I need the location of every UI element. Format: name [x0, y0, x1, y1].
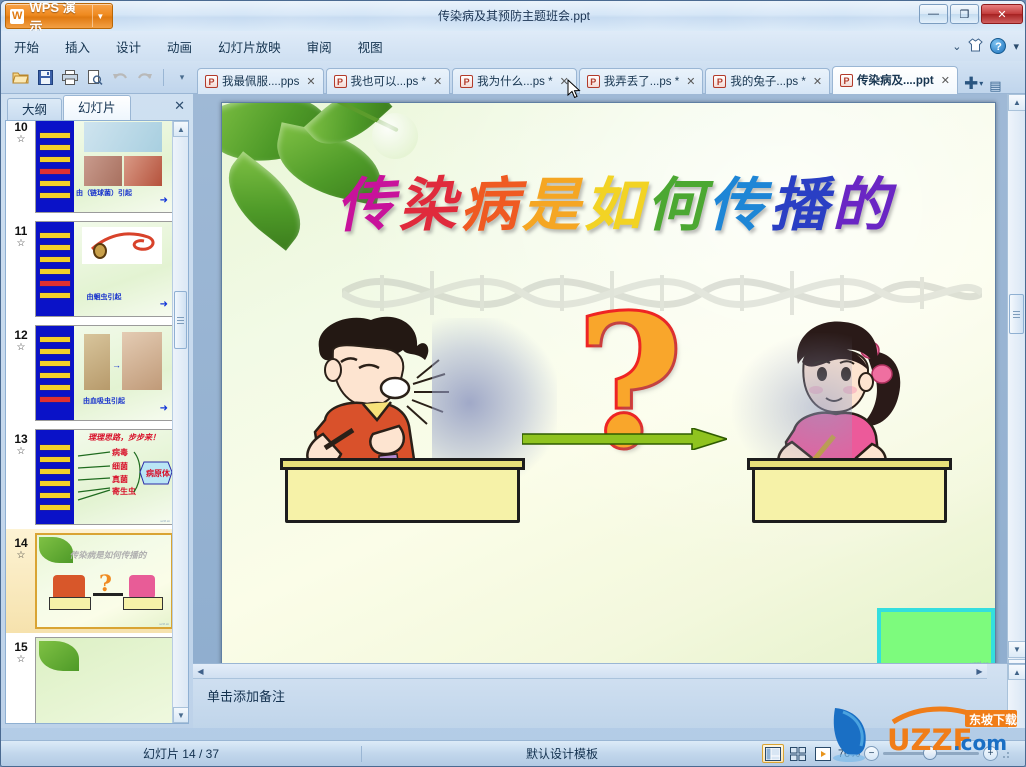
slide-thumbnail-pane: 10 ☆ 由（链球菌）: [5, 120, 189, 724]
scroll-up-button[interactable]: ▲: [1008, 94, 1026, 111]
thumb-arrow-icon: ➜: [160, 403, 168, 414]
thumb-desk-left: [49, 597, 91, 610]
menu-item-insert[interactable]: 插入: [52, 33, 103, 60]
powerpoint-file-icon: P: [713, 75, 726, 88]
slide-number: 15: [10, 641, 32, 654]
coughing-boy-image[interactable]: [267, 308, 557, 523]
scroll-down-button[interactable]: ▼: [173, 707, 189, 723]
thumb-snail-image: [84, 334, 110, 390]
undo-icon-svg: [112, 70, 128, 84]
thumb-watermark: uzzf.cn: [159, 622, 169, 626]
powerpoint-file-icon: P: [840, 74, 853, 87]
svg-text:真菌: 真菌: [112, 474, 128, 484]
animation-star-icon: ☆: [10, 550, 32, 562]
thumbnail-preview: → 由血吸虫引起 ➜: [35, 325, 172, 421]
svg-text:病毒: 病毒: [112, 447, 128, 457]
thumb-caption: 由蛔虫引起: [40, 292, 168, 302]
thumbnail-preview: 由蛔虫引起 ➜: [35, 221, 172, 317]
animation-star-icon: ☆: [10, 238, 32, 250]
doc-tab-1[interactable]: P 我最佩服....pps ✕: [197, 68, 324, 94]
menu-item-view[interactable]: 视图: [345, 33, 396, 60]
view-buttons-group: [762, 744, 838, 763]
menu-item-start[interactable]: 开始: [1, 33, 52, 60]
slide-thumbnail-list[interactable]: 10 ☆ 由（链球菌）: [6, 121, 172, 723]
window-controls: — ❐ ✕: [919, 4, 1023, 24]
slideshow-view-icon: [815, 747, 831, 761]
thumbnail-item-11[interactable]: 11 ☆: [6, 217, 172, 321]
close-panel-icon[interactable]: ✕: [174, 98, 185, 114]
powerpoint-file-icon: P: [460, 75, 473, 88]
document-title: 传染病及其预防主题班会.ppt: [1, 7, 1026, 24]
panel-tabs: 大纲 幻灯片 ✕: [1, 94, 193, 120]
thumb-menu-bar: [39, 456, 71, 463]
thumbnail-meta: 12 ☆: [10, 325, 32, 354]
scrollbar-thumb[interactable]: [1009, 294, 1024, 334]
close-icon[interactable]: ✕: [306, 75, 315, 88]
window-list-icon[interactable]: ▤: [989, 78, 1001, 94]
open-icon[interactable]: [9, 66, 31, 88]
slide-number: 11: [10, 225, 32, 238]
powerpoint-file-icon: P: [334, 75, 347, 88]
scrollbar-grip: [1013, 314, 1020, 315]
chevron-down-icon[interactable]: ▾: [979, 79, 983, 88]
svg-text:病原体: 病原体: [146, 468, 171, 478]
thumb-menu-bar: [39, 348, 71, 355]
thumb-caption: 由血吸虫引起: [40, 396, 168, 406]
thumbnail-item-12[interactable]: 12 ☆ → 由血吸虫引: [6, 321, 172, 425]
thumbnail-item-14-selected[interactable]: 14 ☆ 传染病是如何传播的 ? uzzf.cn: [6, 529, 172, 633]
thumb-menu-bar: [39, 132, 71, 139]
minimize-button[interactable]: —: [919, 4, 948, 24]
close-icon[interactable]: ✕: [433, 75, 442, 88]
notes-placeholder[interactable]: 单击添加备注: [207, 686, 285, 705]
thumb-hand-image: [84, 156, 122, 186]
desk-top-right: [747, 458, 952, 470]
title-char-7: 传: [708, 158, 768, 242]
title-char-3: 病: [459, 157, 520, 242]
zoom-slider-track[interactable]: [883, 752, 979, 755]
slide-editor-area: 传 染 病 是 如 何 传 播 的: [193, 94, 1025, 728]
chevron-down-icon[interactable]: ⌄: [952, 40, 961, 53]
thumb-arrow-icon: ➜: [160, 299, 168, 310]
title-bar: W WPS 演示 ▼ 传染病及其预防主题班会.ppt — ❐ ✕: [1, 1, 1026, 31]
quick-access-toolbar: ▾: [1, 66, 193, 88]
thumb-menu-bar: [39, 144, 71, 151]
thumb-menu-bar: [39, 360, 71, 367]
desk-right: [752, 465, 947, 523]
normal-view-icon: [765, 747, 781, 761]
slides-outline-panel: 大纲 幻灯片 ✕ 10 ☆: [1, 94, 193, 728]
notes-scroll-right-icon[interactable]: ▶: [972, 664, 987, 678]
zoom-control: 70% − +: [838, 746, 1025, 761]
thumbnail-item-15[interactable]: 15 ☆: [6, 633, 172, 723]
toolbar-separator: [163, 69, 164, 86]
normal-view-button[interactable]: [762, 744, 784, 763]
thumb-arrow-line: [93, 593, 123, 596]
thumbnail-preview: 理理思路，步步来！ 病毒 细菌 真菌 寄生虫: [35, 429, 172, 525]
animation-star-icon: ☆: [10, 446, 32, 458]
notes-scroll-left-icon[interactable]: ◀: [193, 664, 208, 678]
thumb-abdomen-image: [122, 332, 162, 390]
slide-number: 14: [10, 537, 32, 550]
thumb-menu-bar: [39, 480, 71, 487]
design-template-name: 默认设计模板: [362, 745, 762, 762]
doc-tab-label: 我弄丢了...ps *: [604, 73, 679, 89]
powerpoint-file-icon: P: [587, 75, 600, 88]
open-icon-svg: [12, 70, 29, 85]
thumb-menu-bar: [39, 156, 71, 163]
thumb-menu-bar: [39, 372, 71, 379]
print-preview-icon-svg: [87, 70, 103, 85]
thumbnail-meta: 11 ☆: [10, 221, 32, 250]
doc-tab-5[interactable]: P 我的兔子...ps * ✕: [705, 68, 830, 94]
menu-bar: 开始 插入 设计 动画 幻灯片放映 审阅 视图 ⌄ ? ▾: [1, 31, 1026, 61]
thumb-menu-bar: [39, 468, 71, 475]
undo-icon[interactable]: [109, 66, 131, 88]
notes-side-scroll[interactable]: ▲: [1007, 664, 1025, 728]
notes-pane[interactable]: ◀ ▶ 单击添加备注 ▲: [193, 663, 1025, 728]
menu-item-review[interactable]: 审阅: [294, 33, 345, 60]
thumbnail-meta: 14 ☆: [10, 533, 32, 562]
doc-tab-label: 我为什么...ps *: [477, 73, 552, 89]
slide-title-wordart[interactable]: 传 染 病 是 如 何 传 播 的: [274, 155, 954, 245]
desk-left: [285, 465, 520, 523]
water-drop-decoration: [372, 113, 418, 159]
slideshow-view-button[interactable]: [812, 744, 834, 763]
title-char-2: 染: [396, 157, 459, 243]
scroll-down-button[interactable]: ▼: [1008, 641, 1026, 658]
green-arrow-shape[interactable]: [522, 428, 727, 450]
slide-number: 12: [10, 329, 32, 342]
zoom-out-button[interactable]: −: [864, 746, 879, 761]
close-icon[interactable]: ✕: [560, 75, 569, 88]
close-icon[interactable]: ✕: [686, 75, 695, 88]
thumbnail-item-13[interactable]: 13 ☆ 理理思路，步步来！: [6, 425, 172, 529]
title-char-1: 传: [334, 156, 398, 243]
resize-grip-icon[interactable]: [1002, 749, 1012, 759]
thumb-arrow-small-icon: →: [112, 360, 121, 370]
notes-scroll-up-button[interactable]: ▲: [1008, 664, 1026, 680]
desk-top-left: [280, 458, 525, 470]
doc-tab-6-active[interactable]: P 传染病及....ppt ✕: [832, 66, 958, 94]
title-char-5: 如: [584, 158, 644, 242]
thumb-desk-right: [123, 597, 163, 610]
slide-sorter-view-button[interactable]: [787, 744, 809, 763]
thumbnail-meta: 10 ☆: [10, 121, 32, 146]
thumbnail-meta: 13 ☆: [10, 429, 32, 458]
thumb-menu-bar: [39, 168, 71, 175]
thumbnail-item-10[interactable]: 10 ☆ 由（链球菌）: [6, 121, 172, 217]
redo-icon-svg: [137, 70, 153, 84]
menu-item-design[interactable]: 设计: [103, 33, 154, 60]
thumb-worm-image: [82, 227, 162, 264]
open-documents-tabs: P 我最佩服....pps ✕ P 我也可以...ps * ✕ P 我为什么..…: [197, 61, 1002, 94]
slide-vertical-scrollbar[interactable]: ▲ ▼ ⯅ ⯆: [1007, 94, 1025, 694]
thumb-menu-bar: [39, 268, 71, 275]
document-tab-bar: ▾ P 我最佩服....pps ✕ P 我也可以...ps * ✕ P 我为什么…: [1, 61, 1026, 94]
print-icon[interactable]: [59, 66, 81, 88]
worm-svg: [82, 227, 162, 264]
tab-slides[interactable]: 幻灯片: [63, 95, 131, 120]
tab-outline[interactable]: 大纲: [7, 98, 62, 120]
thumb-leaf-decoration: [39, 641, 79, 671]
doc-tab-4[interactable]: P 我弄丢了...ps * ✕: [579, 68, 704, 94]
print-preview-icon[interactable]: [84, 66, 106, 88]
thumb-menu-bar: [39, 444, 71, 451]
thumb-bacteria-image: [84, 122, 162, 152]
thumbnail-preview: 传染病是如何传播的 ? uzzf.cn: [35, 533, 172, 629]
listening-girl-image[interactable]: [742, 308, 967, 523]
scroll-up-button[interactable]: ▲: [173, 121, 189, 137]
doc-tab-2[interactable]: P 我也可以...ps * ✕: [326, 68, 451, 94]
menu-item-animation[interactable]: 动画: [154, 33, 205, 60]
zoom-slider-knob[interactable]: [923, 746, 937, 760]
thumb-menu-bar: [39, 180, 71, 187]
help-icon[interactable]: ?: [990, 38, 1006, 54]
thumb-menu-bar: [39, 492, 71, 499]
thumb-menu-bar: [39, 256, 71, 263]
scrollbar-thumb[interactable]: [174, 291, 187, 349]
thumb-foot-image: [124, 156, 162, 186]
save-icon-svg: [38, 70, 53, 85]
thumbnail-meta: 15 ☆: [10, 637, 32, 666]
new-tab-button[interactable]: ✚ ▾: [964, 74, 983, 94]
animation-star-icon: ☆: [10, 342, 32, 354]
svg-text:细菌: 细菌: [112, 461, 128, 471]
skin-shirt-icon[interactable]: [968, 38, 983, 55]
zoom-in-button[interactable]: +: [983, 746, 998, 761]
thumb-arrow-icon: ➜: [160, 195, 168, 206]
thumbnail-preview: 由（链球菌）引起 ➜: [35, 121, 172, 213]
doc-tab-label: 我最佩服....pps: [222, 73, 299, 89]
menubar-right-icons: ⌄ ? ▾: [952, 38, 1026, 55]
notes-splitter-bar[interactable]: ◀ ▶: [193, 664, 987, 679]
svg-text:寄生虫: 寄生虫: [112, 486, 136, 496]
save-icon[interactable]: [34, 66, 56, 88]
doc-tab-3[interactable]: P 我为什么...ps * ✕: [452, 68, 577, 94]
status-bar: 幻灯片 14 / 37 默认设计模板: [1, 740, 1025, 766]
redo-icon[interactable]: [134, 66, 156, 88]
title-char-9: 的: [832, 158, 892, 242]
print-icon-svg: [62, 70, 78, 85]
thumb-flow-diagram: 病毒 细菌 真菌 寄生虫 病原体: [76, 444, 172, 506]
menu-item-slideshow[interactable]: 幻灯片放映: [205, 33, 294, 60]
thumb-menu-bar: [39, 244, 71, 251]
close-icon[interactable]: ✕: [941, 74, 950, 87]
thumb-girl-figure: [129, 575, 155, 599]
zoom-level-label: 70%: [838, 748, 860, 760]
close-icon[interactable]: ✕: [813, 75, 822, 88]
slide-counter: 幻灯片 14 / 37: [1, 745, 361, 762]
skin-shirt-icon-svg: [968, 38, 983, 52]
thumb-menu-bar: [39, 384, 71, 391]
customize-caret-icon[interactable]: ▾: [171, 66, 193, 88]
thumb-menu-bar: [39, 280, 71, 287]
powerpoint-file-icon: P: [205, 75, 218, 88]
animation-star-icon: ☆: [10, 134, 32, 146]
thumb-caption: 由（链球菌）引起: [40, 188, 168, 198]
animation-star-icon: ☆: [10, 654, 32, 666]
plus-icon: ✚: [964, 74, 978, 94]
close-button[interactable]: ✕: [981, 4, 1023, 24]
doc-tab-label: 我也可以...ps *: [351, 73, 426, 89]
title-char-6: 何: [646, 158, 706, 242]
scrollbar-grip: [177, 320, 184, 321]
thumb-menu-bar: [39, 232, 71, 239]
doc-tab-label: 我的兔子...ps *: [730, 73, 805, 89]
title-char-8: 播: [770, 158, 830, 242]
wps-presentation-window: W WPS 演示 ▼ 传染病及其预防主题班会.ppt — ❐ ✕ 开始 插入 设…: [0, 0, 1026, 767]
doc-tab-label: 传染病及....ppt: [857, 72, 934, 88]
slide-sorter-view-icon: [790, 747, 806, 761]
more-caret-icon[interactable]: ▾: [1013, 40, 1019, 53]
thumb-caption: 理理思路，步步来！: [78, 432, 170, 443]
slide-canvas[interactable]: 传 染 病 是 如 何 传 播 的: [221, 102, 996, 672]
thumb-menu-bar: [39, 336, 71, 343]
slide-number: 13: [10, 433, 32, 446]
thumb-title: 传染病是如何传播的: [51, 549, 165, 561]
thumb-watermark: uzzf.cn: [160, 519, 170, 523]
thumbnail-preview: [35, 637, 172, 723]
green-rectangle-shape[interactable]: [877, 608, 995, 670]
maximize-button[interactable]: ❐: [950, 4, 979, 24]
thumb-menu-bar: [39, 504, 71, 511]
thumbnail-scrollbar[interactable]: ▲ ▼: [172, 121, 188, 723]
slide-number: 10: [10, 121, 32, 134]
title-char-4: 是: [522, 158, 582, 242]
